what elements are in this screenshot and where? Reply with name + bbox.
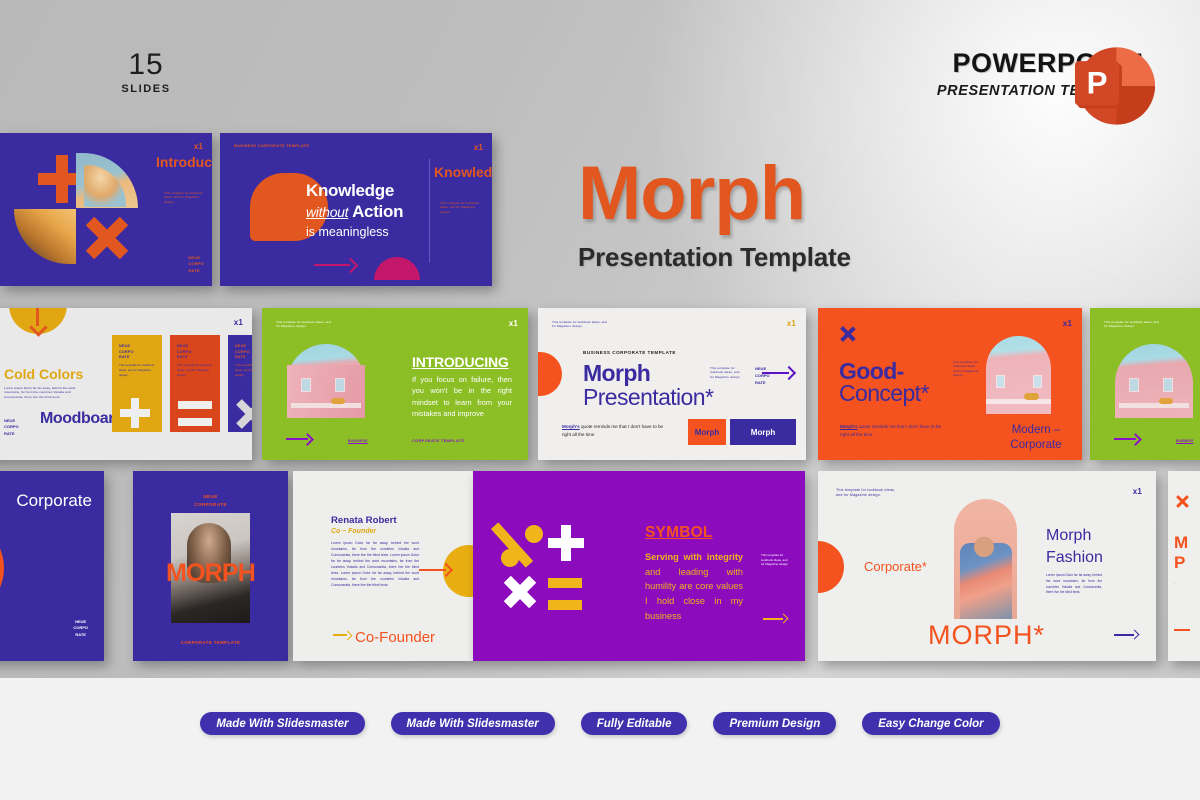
building-detail bbox=[331, 398, 345, 404]
slide-quote: Morph's quote reminds me that I don't ha… bbox=[562, 423, 670, 438]
card-sub: This template for lookbook ideas, and fo… bbox=[177, 363, 213, 377]
photo-man-arch bbox=[954, 499, 1017, 619]
slide-body: Lorem ipsum Dolor far far away, behind t… bbox=[4, 386, 76, 399]
heading-line-2: without Action bbox=[306, 202, 403, 222]
body-text: and leading with humility are core value… bbox=[645, 567, 743, 621]
slide-heading: INTRODUCING bbox=[412, 354, 509, 370]
badge-premium-design[interactable]: Premium Design bbox=[713, 712, 836, 735]
svg-text:P: P bbox=[1087, 65, 1108, 100]
arrow-right-icon bbox=[314, 260, 356, 270]
badge-fully-editable[interactable]: Fully Editable bbox=[581, 712, 688, 735]
morph-word: MORPH bbox=[133, 559, 288, 588]
orange-half-circle bbox=[818, 541, 844, 593]
card-sub: This template for lookbook ideas, and fo… bbox=[119, 363, 155, 377]
photo-woman-yellow bbox=[76, 153, 138, 208]
plus-icon bbox=[548, 525, 584, 561]
slide-body: If you focus on failure, then you won't … bbox=[412, 374, 512, 420]
heading-line-3: is meaningless bbox=[306, 225, 403, 239]
slide-good-concept[interactable]: x1 Good- Concept* This template for look… bbox=[818, 308, 1082, 460]
body-bold: Serving with integrity bbox=[645, 552, 743, 562]
percent-dot-bottom-icon bbox=[501, 549, 519, 567]
slide-renata-robert[interactable]: Renata Robert Co – Founder Lorem ipsum D… bbox=[293, 471, 473, 661]
card-title: NEUECORPORATE bbox=[177, 344, 192, 361]
corporate-template-label: CORPORATE TEMPLATE bbox=[412, 439, 464, 443]
building-wall bbox=[287, 365, 365, 418]
slide-count-badge: x1 bbox=[234, 318, 243, 327]
slide-title-1: Morph bbox=[583, 360, 650, 387]
slide-side-text: This template for lookbook ideas, and fo… bbox=[164, 191, 204, 204]
slide-headline: Introducing bbox=[156, 155, 204, 171]
quote-author: Morph's bbox=[562, 424, 580, 429]
slide-introducing-purple[interactable]: x1 Introducing This template for lookboo… bbox=[0, 133, 212, 286]
orange-blob-shape bbox=[0, 519, 4, 617]
slide-title-2: Presentation* bbox=[583, 384, 713, 411]
slide-top-left-text: This template for lookbook ideas, and fo… bbox=[276, 320, 332, 329]
feature-badges: Made With Slidesmaster Made With Slidesm… bbox=[0, 712, 1200, 735]
building-detail bbox=[1024, 393, 1039, 400]
divider bbox=[429, 159, 430, 263]
heading-line-2-italic: without bbox=[306, 204, 348, 220]
equals-icon-top bbox=[178, 401, 212, 409]
building-window-right bbox=[1163, 378, 1173, 392]
slide-body: Lorem ipsum Dolor far far away, behind t… bbox=[1046, 573, 1102, 596]
slide-count-badge: x1 bbox=[787, 319, 796, 328]
x-icon bbox=[503, 575, 537, 609]
slide-title-1: Morph bbox=[1046, 527, 1091, 545]
quote-author: Morph's bbox=[840, 424, 858, 429]
dash-icon bbox=[1174, 629, 1190, 631]
slide-quote: Morph's quote reminds me that I don't ha… bbox=[840, 423, 942, 438]
morph-word: MORPH* bbox=[928, 620, 1045, 651]
hero-title: Morph bbox=[578, 158, 851, 230]
corporate-label: Corporate* bbox=[864, 559, 927, 574]
slide-heading-group: Knowledge without Action is meaningless bbox=[306, 181, 403, 239]
arrow-right-icon bbox=[763, 615, 787, 623]
slide-title-2: Fashion bbox=[1046, 549, 1103, 567]
card-title: NEUECORPORATE bbox=[119, 344, 134, 361]
slides-count: 15 SLIDES bbox=[86, 50, 206, 95]
slide-corporate-plan[interactable]: Corporate e. an NEUECORPORATE bbox=[0, 471, 104, 661]
slide-body: Lorem ipsum Dolor far far away, behind t… bbox=[331, 541, 419, 589]
building-window-right bbox=[335, 378, 345, 392]
slide-meta-1: This template for lookbook ideas, and fo… bbox=[710, 366, 742, 379]
slide-moodboard[interactable]: x1 Cold Colors Lorem ipsum Dolor far far… bbox=[0, 308, 252, 460]
person-name: Renata Robert bbox=[331, 515, 397, 526]
slide-kicker: BUSINESS CORPORATE TEMPLATE bbox=[234, 144, 309, 148]
plus-icon bbox=[120, 398, 150, 428]
photo-pink-building bbox=[1115, 344, 1193, 418]
photo-pink-building bbox=[287, 344, 365, 418]
slide-title-2: Concept* bbox=[839, 380, 929, 407]
slide-count-badge: x1 bbox=[474, 143, 483, 152]
slide-corner-label: NEUECORPORATE bbox=[73, 619, 88, 639]
arrow-right-icon bbox=[762, 368, 794, 377]
person-head bbox=[974, 537, 994, 557]
slide-right-text: This template for lookbook ideas, and fo… bbox=[440, 201, 484, 214]
equals-icon-bottom bbox=[178, 418, 212, 426]
equals-icon-bottom bbox=[548, 600, 582, 610]
slide-right-headline: Knowledge? bbox=[434, 165, 484, 181]
slide-bottom-label: CORPORATE TEMPLATE bbox=[133, 640, 288, 645]
slide-green-partial[interactable]: This template for lookbook ideas, and fo… bbox=[1090, 308, 1200, 460]
percent-dot-top-icon bbox=[525, 525, 543, 543]
arrow-right-icon bbox=[286, 435, 312, 443]
x-icon bbox=[235, 398, 252, 430]
slide-meta: This template for lookbook ideas, and fo… bbox=[953, 360, 981, 378]
orange-half-circle bbox=[538, 352, 562, 396]
slide-count-badge: x1 bbox=[1133, 487, 1142, 496]
card-title: NEUECORPORATE bbox=[235, 344, 250, 361]
slide-morph-fashion[interactable]: x1 This template for lookbook ideas, and… bbox=[818, 471, 1156, 661]
slide-corner-label: NEUECORPORATE bbox=[4, 418, 19, 437]
powerpoint-logo-icon: P bbox=[1063, 40, 1155, 132]
slide-side-text: This template for lookbook ideas, and fo… bbox=[761, 553, 789, 567]
slide-kicker: BUSINESS CORPORATE TEMPLATE bbox=[583, 350, 676, 355]
slide-symbol[interactable]: SYMBOL Serving with integrity and leadin… bbox=[473, 471, 805, 661]
slide-meta: ··· bbox=[1174, 581, 1200, 586]
building-window-left bbox=[301, 378, 311, 392]
card-sub: This template for lookbook ideas, and fo… bbox=[235, 363, 252, 377]
heading-line-2-bold: Action bbox=[352, 202, 403, 221]
badge-made-with-slidesmaster-1[interactable]: Made With Slidesmaster bbox=[200, 712, 364, 735]
slide-count-badge: x1 bbox=[1063, 319, 1072, 328]
arrow-right-icon bbox=[1114, 631, 1138, 639]
slide-morph-portrait[interactable]: NEUECORPORATE MORPH CORPORATE TEMPLATE bbox=[133, 471, 288, 661]
morph-button-orange[interactable]: Morph bbox=[688, 419, 726, 445]
slide-heading: Cold Colors bbox=[4, 366, 83, 382]
badge-made-with-slidesmaster-2[interactable]: Made With Slidesmaster bbox=[391, 712, 555, 735]
background-bottom bbox=[0, 678, 1200, 800]
slide-top-left-text: This template for lookbook ideas, and fo… bbox=[836, 488, 896, 499]
slide-morph-presentation[interactable]: x1 This template for lookbook ideas, and… bbox=[538, 308, 806, 460]
business-label: BUSINESS bbox=[348, 439, 368, 443]
slides-count-label: SLIDES bbox=[86, 83, 206, 95]
building-window-left bbox=[1129, 378, 1139, 392]
slide-top-left-text: This template for lookbook ideas, and fo… bbox=[1104, 320, 1160, 329]
business-label: BUSINESS bbox=[1176, 439, 1193, 443]
photo-woman-hair bbox=[14, 209, 76, 264]
slide-heading: SYMBOL bbox=[645, 524, 713, 542]
person-role: Co – Founder bbox=[331, 528, 376, 535]
hero-subtitle: Presentation Template bbox=[578, 242, 851, 273]
photo-pink-building-arch bbox=[986, 336, 1051, 414]
arrow-right-icon bbox=[1114, 435, 1140, 443]
building-window-right bbox=[1033, 375, 1042, 388]
hero-block: Morph Presentation Template bbox=[578, 158, 851, 273]
building-ledge bbox=[986, 399, 1051, 404]
slide-top-left-text: This template for lookbook ideas, and fo… bbox=[552, 320, 608, 329]
building-ledge bbox=[1119, 403, 1189, 408]
morph-button-purple[interactable]: Morph bbox=[730, 419, 796, 445]
slide-count-badge: x1 bbox=[509, 319, 518, 328]
building-window-left bbox=[996, 375, 1005, 388]
symbol-group bbox=[501, 523, 621, 613]
slide-count-badge: x1 bbox=[194, 142, 203, 151]
building-ledge bbox=[291, 403, 361, 408]
arrow-right-icon bbox=[419, 565, 451, 574]
slide-knowledge-purple[interactable]: x1 BUSINESS CORPORATE TEMPLATE Knowledge… bbox=[220, 133, 492, 286]
badge-easy-change-color[interactable]: Easy Change Color bbox=[862, 712, 999, 735]
slide-top-label: NEUECORPORATE bbox=[133, 493, 288, 509]
slide-title-2: P bbox=[1174, 553, 1185, 573]
slide-white-partial[interactable]: M P ··· bbox=[1168, 471, 1200, 661]
slide-title: Corporate bbox=[16, 491, 92, 511]
slide-caption: Modern – Corporate bbox=[986, 423, 1082, 454]
co-founder-label: Co-Founder bbox=[355, 629, 435, 646]
x-icon bbox=[1176, 495, 1189, 508]
magenta-dome-shape bbox=[374, 257, 420, 280]
building-detail bbox=[1159, 398, 1173, 404]
x-icon bbox=[84, 215, 130, 261]
arrow-right-small-icon bbox=[333, 631, 351, 639]
equals-icon-top bbox=[548, 578, 582, 588]
heading-line-1: Knowledge bbox=[306, 181, 403, 201]
x-icon bbox=[840, 326, 856, 342]
slides-count-number: 15 bbox=[86, 50, 206, 80]
slide-title-1: M bbox=[1174, 533, 1188, 553]
slide-body: Serving with integrity and leading with … bbox=[645, 550, 743, 624]
slide-corner-label: NEUECORPORATE bbox=[188, 255, 204, 274]
slide-introducing-green[interactable]: x1 This template for lookbook ideas, and… bbox=[262, 308, 528, 460]
arrow-down-icon bbox=[36, 308, 39, 326]
